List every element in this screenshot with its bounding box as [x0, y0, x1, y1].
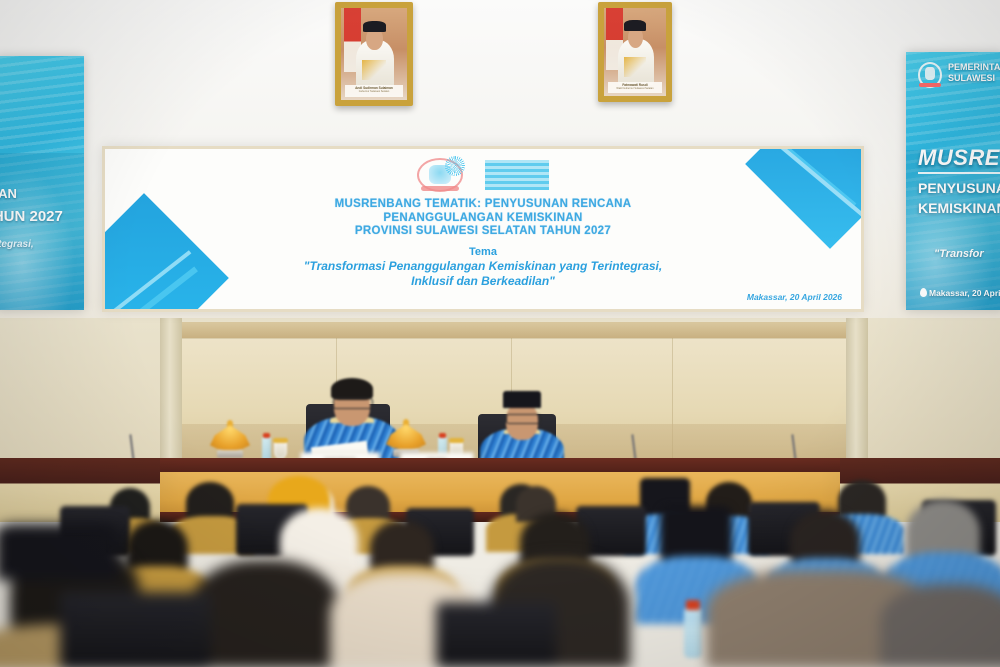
left-screen-line2: AHUN 2027	[0, 208, 63, 225]
songkok-cap-icon	[503, 391, 541, 408]
right-screen-big-title: MUSREN	[918, 145, 1000, 171]
right-screen-header: PEMERINTAH SULAWESI	[948, 62, 1000, 85]
right-screen-sub2: KEMISKINAN	[918, 200, 1000, 216]
location-pin-icon	[920, 288, 927, 297]
left-screen-line3: Terintegrasi,	[0, 239, 34, 250]
right-screen-place-date: Makassar, 20 April	[920, 287, 1000, 298]
meeting-room-photo: Andi Sudirman Sulaiman Gubernur Sulawesi…	[0, 0, 1000, 667]
water-bottle-audience	[684, 608, 702, 658]
drinking-glass-1	[274, 442, 287, 459]
portrait-vice-governor: Fatmawati Rusdi Wakil Gubernur Sulawesi …	[598, 2, 672, 102]
right-screen-header-line1: PEMERINTAH	[948, 62, 1000, 72]
provincial-emblem-icon	[918, 62, 942, 88]
right-screen-rule	[918, 172, 1000, 174]
speaker-secondary	[478, 392, 566, 468]
right-screen-sub1: PENYUSUNA	[918, 180, 1000, 196]
right-screen-tema: "Transfor	[934, 248, 984, 260]
wall-trim	[160, 322, 860, 338]
right-screen-header-line2: SULAWESI	[948, 73, 995, 83]
portrait-title-right: Wakil Gubernur Sulawesi Selatan	[608, 87, 663, 90]
wall-pillar-left	[160, 318, 182, 478]
main-projection-screen: MUSRENBANG TEMATIK: PENYUSUNAN RENCANA P…	[102, 146, 864, 312]
eyeglasses-icon-2	[506, 414, 541, 424]
right-screen-place-text: Makassar, 20 April	[929, 288, 1000, 298]
side-screen-left: GAN AHUN 2027 Terintegrasi,	[0, 56, 84, 310]
portrait-governor: Andi Sudirman Sulaiman Gubernur Sulawesi…	[335, 2, 413, 106]
eyeglasses-icon	[333, 398, 373, 409]
tudung-saji-left	[210, 425, 250, 459]
wall-pillar-right	[846, 318, 868, 478]
side-screen-right: PEMERINTAH SULAWESI MUSREN PENYUSUNA KEM…	[906, 52, 1000, 310]
portrait-title-left: Gubernur Sulawesi Selatan	[345, 90, 403, 93]
left-screen-line1: GAN	[0, 186, 17, 201]
